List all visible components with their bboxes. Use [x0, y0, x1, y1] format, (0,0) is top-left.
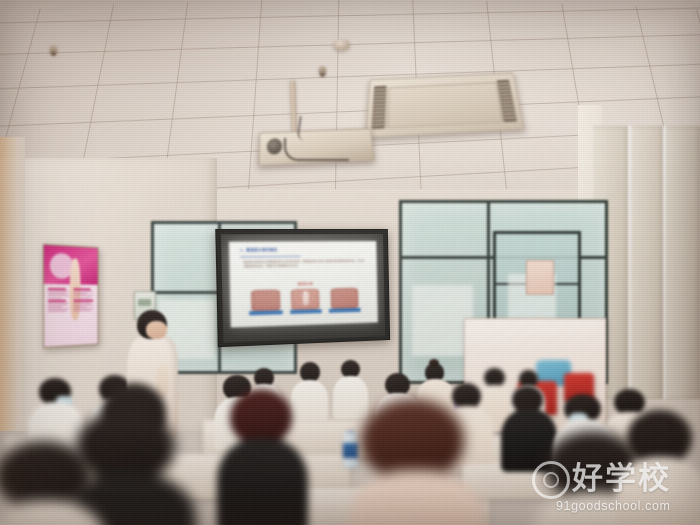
attendee-foreground [0, 441, 105, 525]
slide-figure-caption [249, 311, 282, 316]
slide-figure [329, 288, 361, 313]
slide-figures [249, 288, 361, 315]
attendee-foreground [217, 389, 308, 525]
projection-screen: 1、腹直肌分离的概念 腹直肌分离是指左右两侧腹直肌之间的距离增宽，两侧腹直肌之间… [216, 229, 391, 348]
slide-body-text: 腹直肌分离是指左右两侧腹直肌之间的距离增宽，两侧腹直肌之间的白线因拉伸变薄而出现… [244, 260, 366, 270]
slide-figure-caption [290, 309, 322, 314]
attendee-foreground [350, 399, 483, 525]
slide-figure-caption [329, 308, 360, 313]
left-wall-edge [0, 137, 25, 431]
slide-figure [249, 290, 283, 316]
slide-title-underline [241, 256, 301, 257]
fire-sprinkler [319, 66, 326, 75]
slide-subtitle: 腹直肌分离 [230, 280, 377, 287]
projector-cable [296, 116, 329, 144]
fire-sprinkler [50, 45, 57, 54]
attendee-foreground [616, 410, 700, 525]
wall-poster [43, 244, 99, 348]
slide-figure [290, 289, 323, 314]
presentation-slide: 1、腹直肌分离的概念 腹直肌分离是指左右两侧腹直肌之间的距离增宽，两侧腹直肌之间… [230, 241, 378, 328]
air-conditioner-unit [365, 73, 524, 139]
slide-title: 1、腹直肌分离的概念 [240, 247, 344, 253]
door-sign [526, 260, 553, 296]
projector-lens [266, 138, 282, 155]
classroom-photo: 1、腹直肌分离的概念 腹直肌分离是指左右两侧腹直肌之间的距离增宽，两侧腹直肌之间… [0, 0, 700, 525]
